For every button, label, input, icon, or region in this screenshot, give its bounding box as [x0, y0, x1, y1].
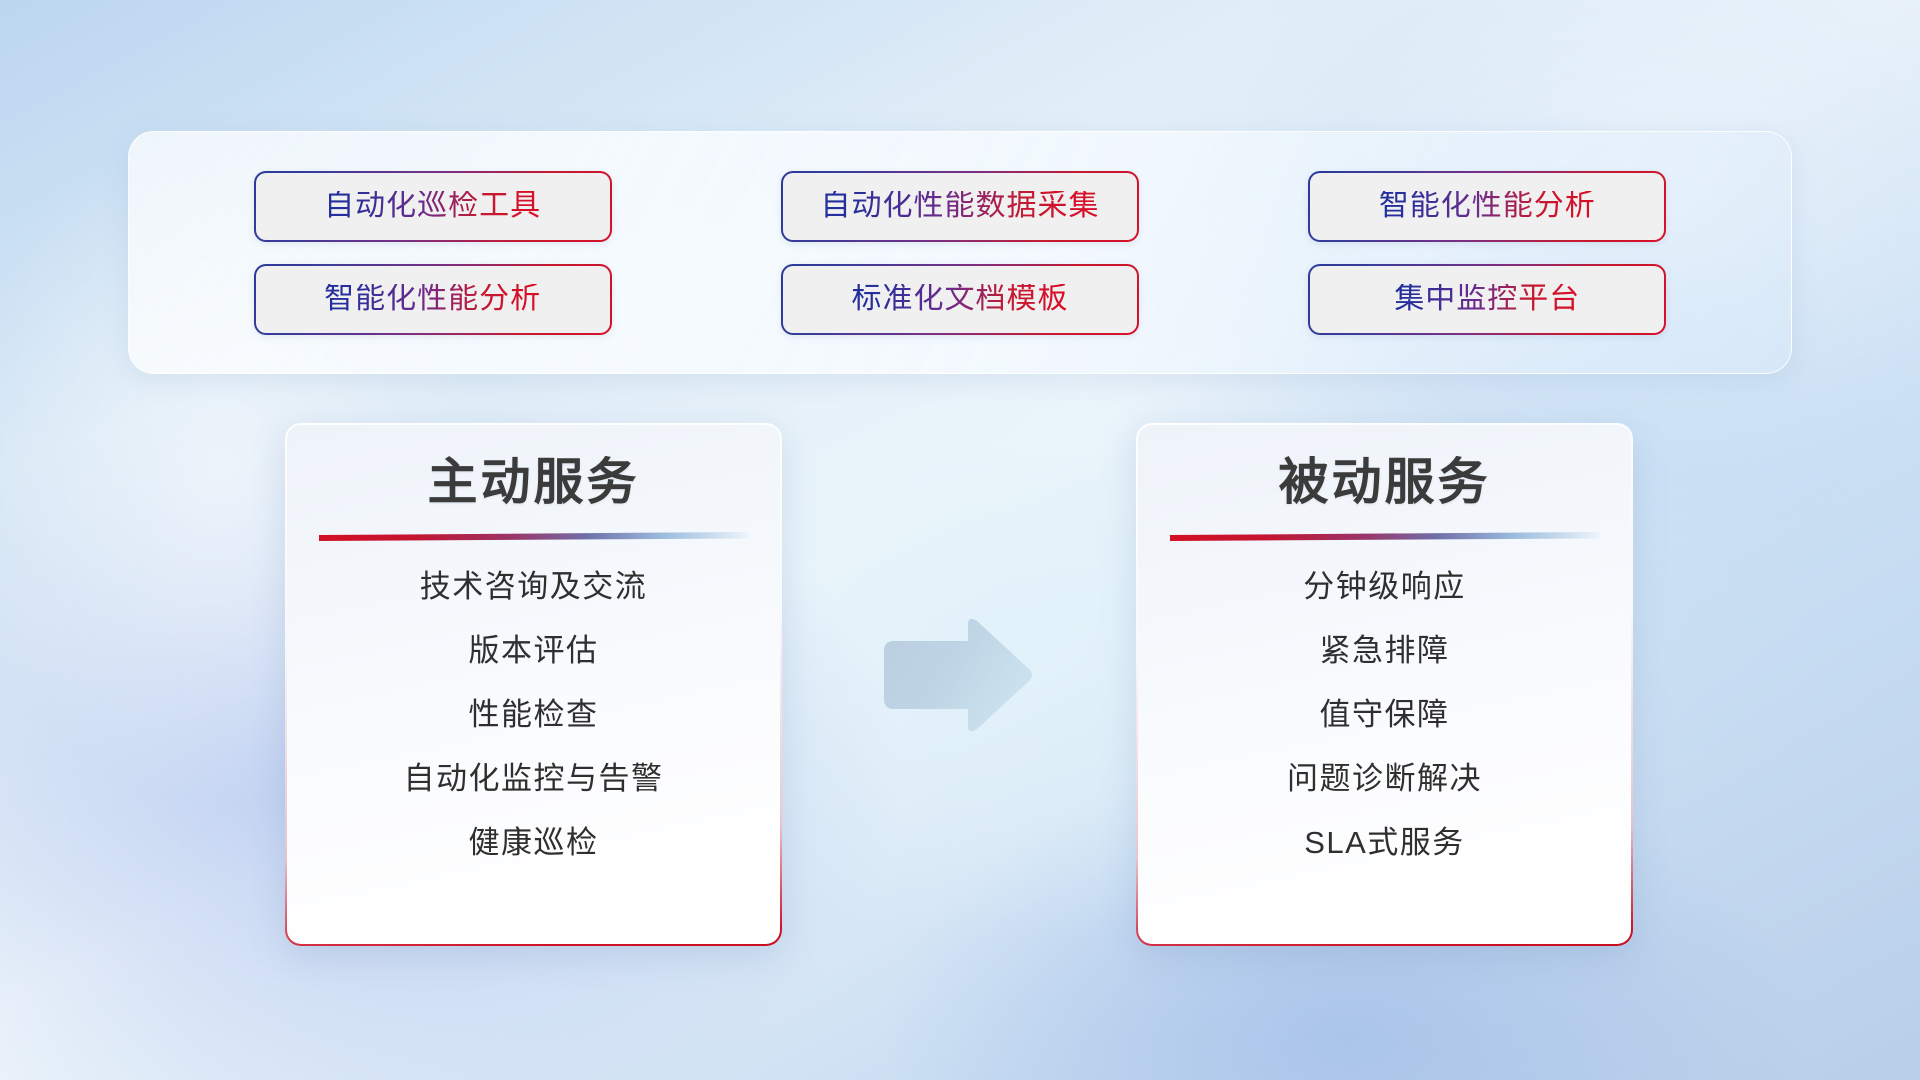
list-item: 问题诊断解决 [1287, 763, 1482, 794]
list-item: 版本评估 [469, 635, 599, 666]
service-card-reactive: 被动服务 分钟级响应 紧急排障 值守保障 问题诊断解决 SLA式服务 [1136, 423, 1633, 946]
pill-surface: 自动化性能数据采集 [783, 173, 1137, 240]
list-item: SLA式服务 [1304, 827, 1465, 858]
card-divider [1170, 532, 1600, 541]
card-title: 主动服务 [428, 453, 640, 512]
capability-pill-label: 智能化性能分析 [324, 284, 541, 314]
capability-pill-intelligent-performance-analysis-top[interactable]: 智能化性能分析 [1308, 171, 1666, 242]
pill-surface: 集中监控平台 [1310, 266, 1664, 333]
capability-pill-label: 智能化性能分析 [1379, 191, 1596, 221]
service-card-proactive: 主动服务 技术咨询及交流 版本评估 性能检查 自动化监控与告警 健康巡检 [285, 423, 782, 946]
card-surface: 被动服务 分钟级响应 紧急排障 值守保障 问题诊断解决 SLA式服务 [1138, 425, 1631, 944]
card-title: 被动服务 [1279, 453, 1491, 512]
card-surface: 主动服务 技术咨询及交流 版本评估 性能检查 自动化监控与告警 健康巡检 [287, 425, 780, 944]
capability-pill-label: 自动化性能数据采集 [820, 191, 1099, 221]
slide-canvas: 自动化巡检工具 自动化性能数据采集 智能化性能分析 智能化性能分析 [0, 0, 1920, 1080]
capability-pill-automated-performance-data-collection[interactable]: 自动化性能数据采集 [781, 171, 1139, 242]
card-divider [319, 532, 749, 541]
capability-row-1: 自动化巡检工具 自动化性能数据采集 智能化性能分析 [129, 171, 1791, 242]
list-item: 值守保障 [1320, 699, 1450, 730]
pill-surface: 智能化性能分析 [1310, 173, 1664, 240]
service-item-list: 技术咨询及交流 版本评估 性能检查 自动化监控与告警 健康巡检 [287, 571, 780, 858]
capability-pill-standardized-document-template[interactable]: 标准化文档模板 [781, 264, 1139, 335]
list-item: 紧急排障 [1320, 635, 1450, 666]
pill-surface: 标准化文档模板 [783, 266, 1137, 333]
capability-pill-intelligent-performance-analysis-bottom[interactable]: 智能化性能分析 [254, 264, 612, 335]
list-item: 健康巡检 [469, 827, 599, 858]
capability-pill-label: 自动化巡检工具 [324, 191, 541, 221]
list-item: 自动化监控与告警 [404, 763, 664, 794]
list-item: 性能检查 [469, 699, 599, 730]
pill-surface: 智能化性能分析 [256, 266, 610, 333]
capability-pill-label: 标准化文档模板 [851, 284, 1068, 314]
capability-pill-centralized-monitoring-platform[interactable]: 集中监控平台 [1308, 264, 1666, 335]
capability-pill-label: 集中监控平台 [1394, 284, 1580, 314]
pill-surface: 自动化巡检工具 [256, 173, 610, 240]
list-item: 技术咨询及交流 [420, 571, 648, 602]
service-item-list: 分钟级响应 紧急排障 值守保障 问题诊断解决 SLA式服务 [1138, 571, 1631, 858]
capability-pill-automated-inspection-tool[interactable]: 自动化巡检工具 [254, 171, 612, 242]
capability-row-2: 智能化性能分析 标准化文档模板 集中监控平台 [129, 264, 1791, 335]
arrow-right-icon [876, 615, 1036, 735]
list-item: 分钟级响应 [1303, 571, 1466, 602]
capability-panel: 自动化巡检工具 自动化性能数据采集 智能化性能分析 智能化性能分析 [128, 131, 1792, 374]
